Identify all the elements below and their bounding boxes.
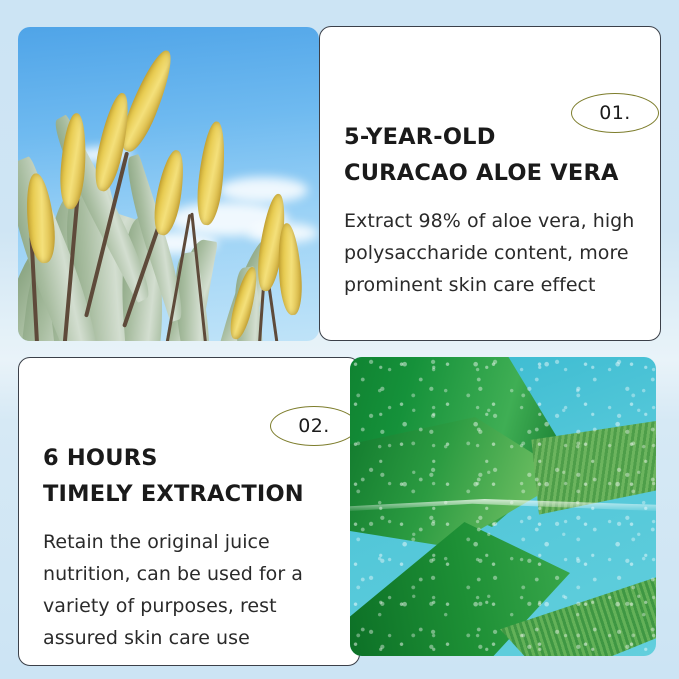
step-number-badge-two: 02. [270, 406, 358, 446]
cloud-shape [218, 177, 308, 203]
feature-card-two-body: Retain the original juice nutrition, can… [43, 526, 335, 654]
feature-card-one: 01. 5-YEAR-OLD CURACAO ALOE VERA Extract… [319, 26, 661, 341]
aloe-field-photo [18, 27, 319, 341]
water-droplets-texture [350, 357, 656, 656]
product-feature-infographic: 01. 5-YEAR-OLD CURACAO ALOE VERA Extract… [0, 0, 679, 679]
feature-card-two-heading-line1: 6 HOURS [43, 440, 339, 476]
step-number-badge-one: 01. [571, 93, 659, 133]
feature-card-one-body: Extract 98% of aloe vera, high polysacch… [344, 205, 640, 301]
feature-card-two: 02. 6 HOURS TIMELY EXTRACTION Retain the… [18, 357, 360, 666]
feature-card-one-heading-line2: CURACAO ALOE VERA [344, 155, 640, 191]
feature-card-two-content: 02. 6 HOURS TIMELY EXTRACTION Retain the… [43, 410, 339, 654]
aloe-leaf-macro-photo [350, 357, 656, 656]
feature-card-one-content: 01. 5-YEAR-OLD CURACAO ALOE VERA Extract… [344, 89, 640, 301]
feature-card-two-heading-line2: TIMELY EXTRACTION [43, 476, 339, 512]
